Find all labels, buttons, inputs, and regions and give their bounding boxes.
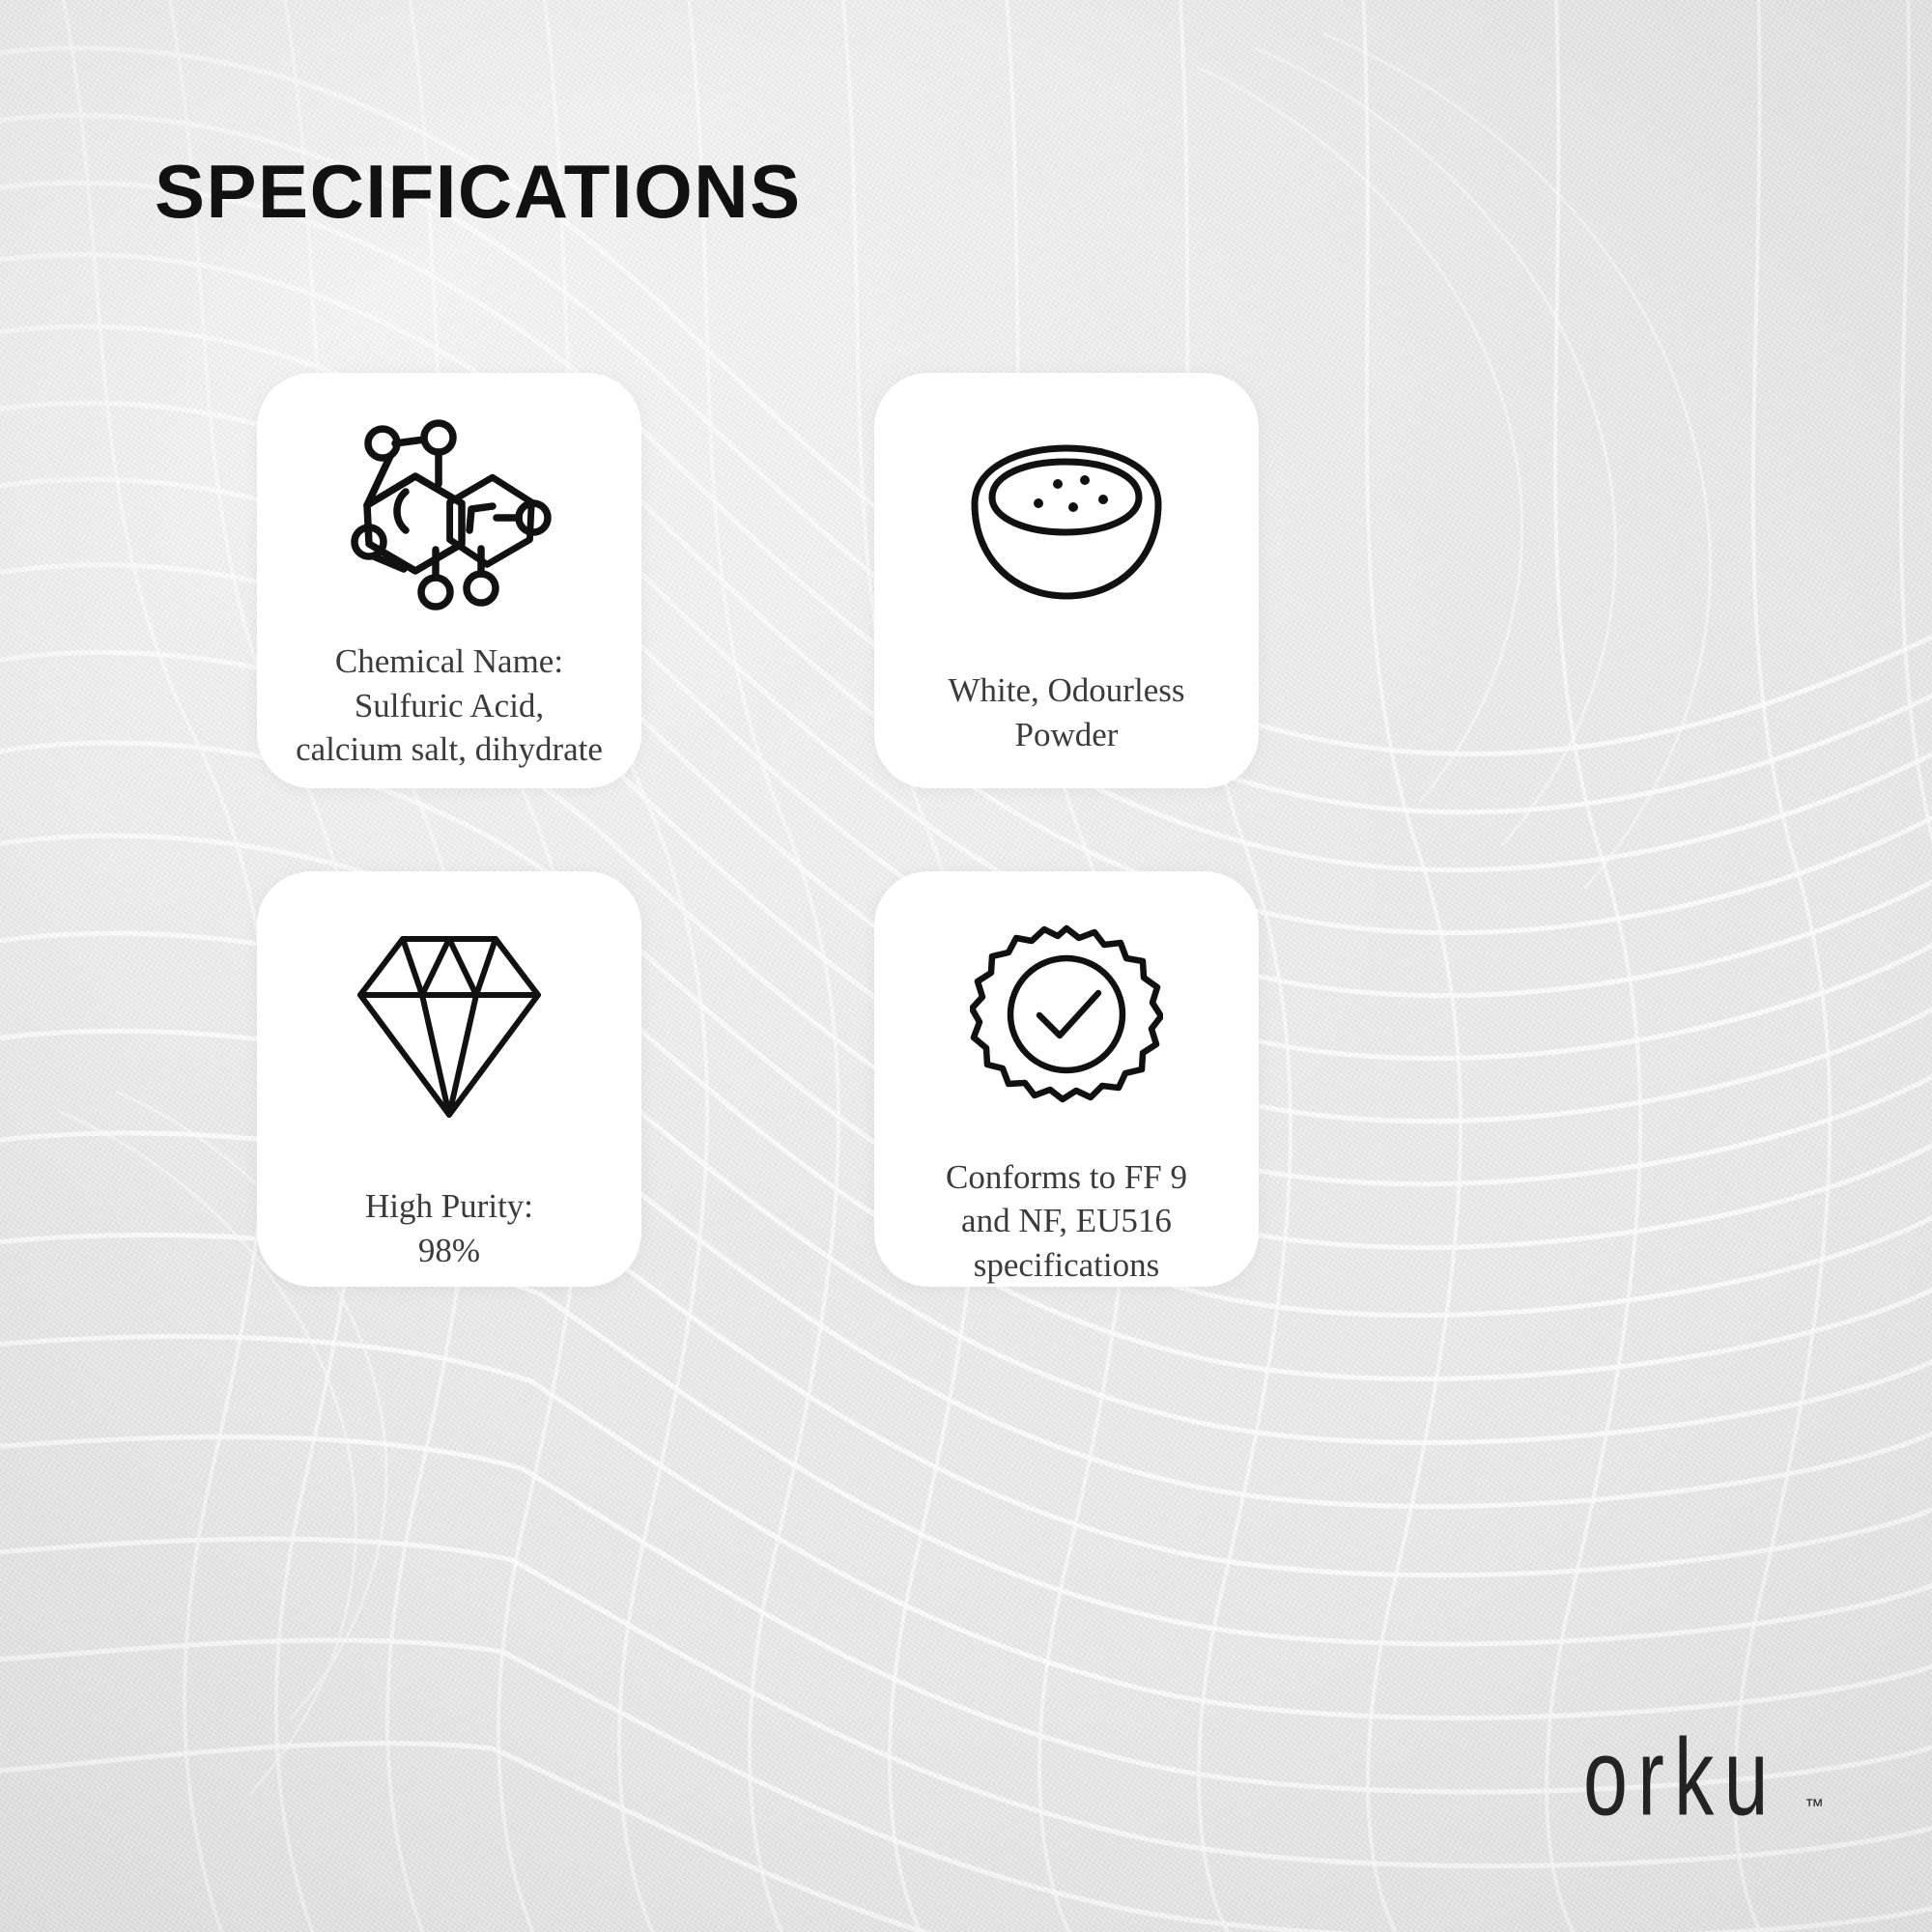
spec-card-purity: High Purity: 98% [257,871,641,1287]
certified-badge-check-icon [874,871,1259,1140]
brand-logo: orku ™ [1583,1747,1824,1824]
spec-card-appearance: White, Odourless Powder [874,373,1259,788]
brand-logo-wordmark: orku [1583,1734,1778,1824]
spec-card-compliance: Conforms to FF 9 and NF, EU516 specifica… [874,871,1259,1287]
spec-card-text: Chemical Name: Sulfuric Acid, calcium sa… [266,639,633,772]
page-title: SPECIFICATIONS [155,148,802,236]
trademark-symbol: ™ [1804,1796,1824,1818]
molecule-icon [257,373,641,636]
spec-card-text: High Purity: 98% [266,1184,633,1272]
spec-card-text: Conforms to FF 9 and NF, EU516 specifica… [883,1155,1250,1288]
powder-bowl-icon [874,373,1259,643]
spec-card-chemical-name: Chemical Name: Sulfuric Acid, calcium sa… [257,373,641,788]
spec-card-text: White, Odourless Powder [883,668,1250,756]
diamond-icon [257,871,641,1151]
specifications-infographic: SPECIFICATIONS [0,0,1932,1932]
